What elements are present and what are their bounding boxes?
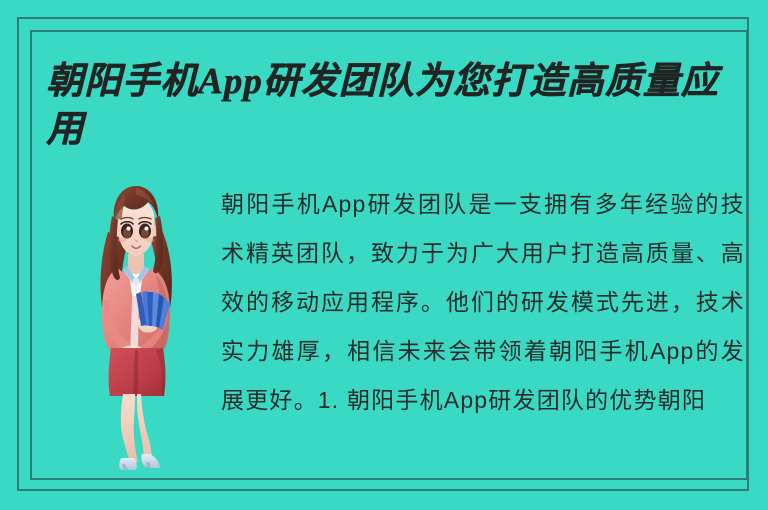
body-paragraph: 朝阳手机App研发团队是一支拥有多年经验的技术精英团队，致力于为广大用户打造高质… <box>221 180 745 425</box>
poster-canvas: 朝阳手机App研发团队为您打造高质量应用 <box>0 0 768 510</box>
page-title: 朝阳手机App研发团队为您打造高质量应用 <box>46 58 736 154</box>
anime-girl-illustration <box>78 180 194 472</box>
